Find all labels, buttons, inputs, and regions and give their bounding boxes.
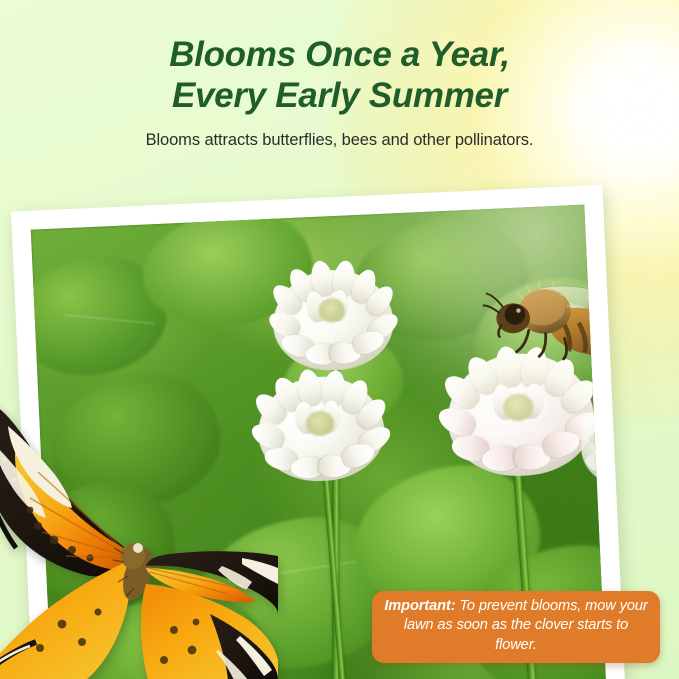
clover-blossom [579,398,606,491]
butterfly-lower-wing-right [141,584,278,679]
page-title: Blooms Once a Year, Every Early Summer [0,34,679,116]
page-subtitle: Blooms attracts butterflies, bees and ot… [0,130,679,151]
honeybee-illustration [481,260,606,380]
butterfly-illustration [0,398,278,679]
butterfly-upper-wing [0,400,129,576]
callout-text: Important: To prevent blooms, mow your l… [384,597,648,656]
clover-petal [600,402,606,437]
important-callout: Important: To prevent blooms, mow your l… [372,591,660,663]
butterfly-lower-wing [0,562,130,679]
poster-canvas: Blooms Once a Year, Every Early Summer B… [0,0,679,679]
header-block: Blooms Once a Year, Every Early Summer B… [0,34,679,151]
clover-blossom [264,255,401,379]
callout-label: Important: [384,598,455,614]
